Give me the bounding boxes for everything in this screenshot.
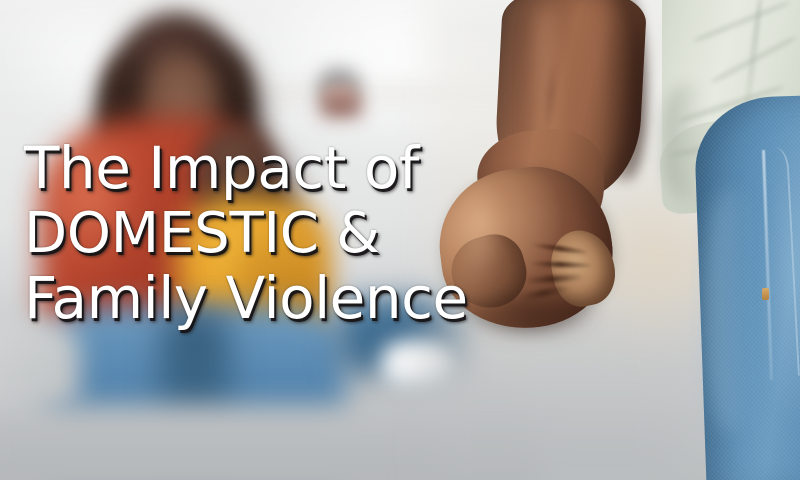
headline-line-2: DOMESTIC &: [24, 201, 564, 266]
jeans-rivet: [762, 288, 769, 300]
headline-line-1: The Impact of: [24, 136, 564, 201]
forearm-shadow: [600, 0, 646, 180]
jeans-pocket: [710, 146, 800, 380]
headline-line-3: Family Violence: [24, 266, 564, 331]
banner-image: The Impact of DOMESTIC & Family Violence: [0, 0, 800, 480]
headline-overlay: The Impact of DOMESTIC & Family Violence: [24, 136, 564, 331]
